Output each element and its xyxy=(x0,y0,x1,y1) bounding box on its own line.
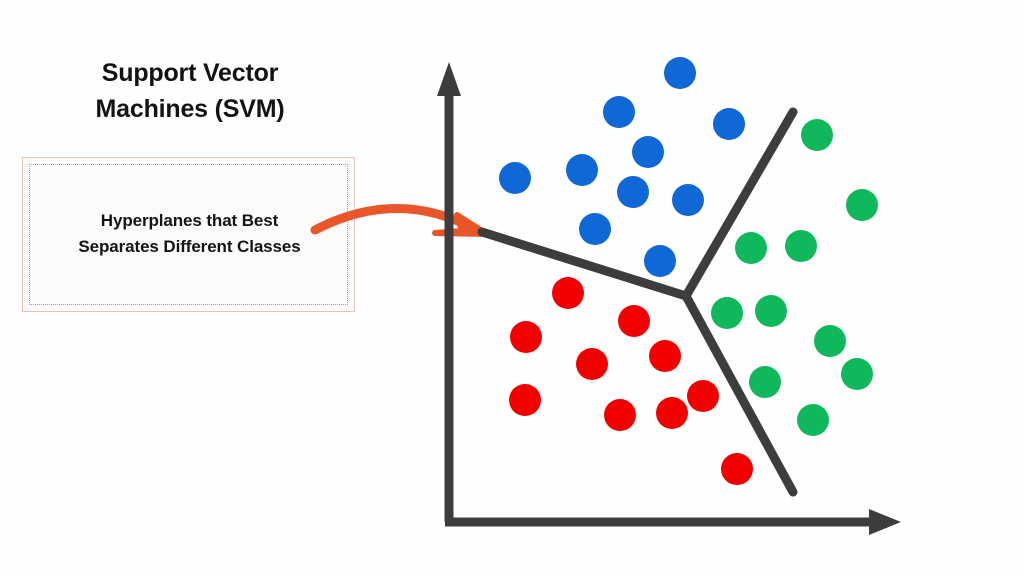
data-points-group xyxy=(499,57,878,485)
data-point xyxy=(672,184,704,216)
data-point xyxy=(664,57,696,89)
data-point xyxy=(510,321,542,353)
data-point xyxy=(649,340,681,372)
x-axis-arrowhead xyxy=(869,509,901,535)
data-point xyxy=(552,277,584,309)
data-point xyxy=(632,136,664,168)
data-point xyxy=(797,404,829,436)
data-point xyxy=(749,366,781,398)
data-point xyxy=(713,108,745,140)
data-point xyxy=(644,245,676,277)
data-point xyxy=(785,230,817,262)
data-point xyxy=(656,397,688,429)
data-point xyxy=(755,295,787,327)
data-point xyxy=(618,305,650,337)
data-point xyxy=(711,297,743,329)
data-point xyxy=(687,380,719,412)
data-point xyxy=(617,176,649,208)
curved-pointer-arrow xyxy=(315,208,487,234)
data-point xyxy=(846,189,878,221)
data-point xyxy=(509,384,541,416)
data-point xyxy=(566,154,598,186)
data-point xyxy=(721,453,753,485)
hyperplane-group xyxy=(482,112,793,492)
data-point xyxy=(814,325,846,357)
data-point xyxy=(801,119,833,151)
data-point xyxy=(576,348,608,380)
data-point xyxy=(499,162,531,194)
data-point xyxy=(735,232,767,264)
y-axis-arrowhead xyxy=(437,62,461,96)
data-point xyxy=(604,399,636,431)
series-0 xyxy=(499,57,745,277)
data-point xyxy=(579,213,611,245)
data-point xyxy=(603,96,635,128)
data-point xyxy=(841,358,873,390)
slide-canvas: Support Vector Machines (SVM) Hyperplane… xyxy=(0,0,1024,576)
svm-scatter-plot xyxy=(0,0,1024,576)
